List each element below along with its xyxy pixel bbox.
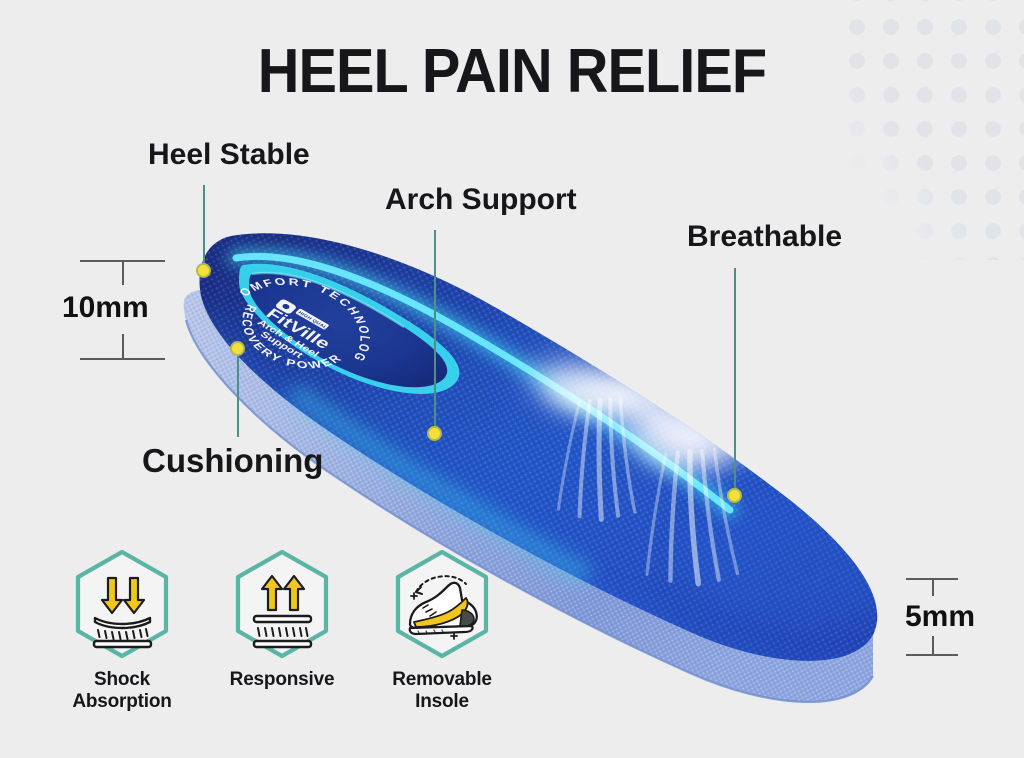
heel-cup <box>239 264 459 394</box>
page-title: HEEL PAIN RELIEF <box>36 36 988 107</box>
dimension-value-10mm: 10mm <box>62 291 149 325</box>
print-brand: FitVille <box>262 305 334 352</box>
callout-label-breathable: Breathable <box>687 220 842 254</box>
dimension-tick-bottom <box>80 358 165 360</box>
svg-text:COMFORT TECHNOLOGY: COMFORT TECHNOLOGY <box>234 253 403 366</box>
print-line-1: Arch & Heel <box>255 318 321 359</box>
feature-label-line: Responsive <box>230 669 335 691</box>
feature-responsive[interactable]: Responsive <box>202 548 362 691</box>
callout-dot-cushioning <box>230 341 245 356</box>
feature-shock-absorption[interactable]: Shock Absorption <box>42 548 202 712</box>
dimension-marker-5mm: 5mm <box>906 578 1016 658</box>
feature-label-responsive: Responsive <box>230 669 335 691</box>
feature-label-removable-insole: Removable Insole <box>392 669 492 712</box>
leader-line-breathable <box>734 268 736 490</box>
dimension-vline-bottom <box>932 636 934 654</box>
feature-label-shock-absorption: Shock Absorption <box>72 669 171 712</box>
dimension-tick-bottom <box>906 654 958 656</box>
callout-label-heel-stable: Heel Stable <box>148 138 310 172</box>
dimension-marker-10mm: 10mm <box>80 260 200 360</box>
arch-support-glow <box>236 256 730 572</box>
callout-dot-breathable <box>727 488 742 503</box>
dimension-vline-top <box>122 260 124 285</box>
feature-removable-insole[interactable]: Removable Insole <box>362 548 522 712</box>
feature-label-line: Absorption <box>72 691 171 713</box>
insole-print-logo: COMFORT TECHNOLOGY RECOVERY POWER HIGH Q… <box>202 253 402 396</box>
shoe-with-removable-insole-icon <box>390 548 494 660</box>
feature-label-line: Removable <box>392 669 492 691</box>
leader-line-heel-stable <box>203 185 205 265</box>
dimension-vline-top <box>932 578 934 596</box>
leader-line-arch-support <box>434 230 436 428</box>
callout-dot-arch-support <box>427 426 442 441</box>
svg-text:HIGH QUALITY: HIGH QUALITY <box>297 310 337 334</box>
dimension-vline-bottom <box>122 334 124 359</box>
feature-label-line: Shock <box>72 669 171 691</box>
callout-label-arch-support: Arch Support <box>385 183 577 217</box>
downward-arrows-compressed-foam-icon <box>70 548 174 660</box>
leader-line-cushioning <box>237 354 239 437</box>
infographic-canvas: COMFORT TECHNOLOGY RECOVERY POWER HIGH Q… <box>0 0 1024 758</box>
callout-label-cushioning: Cushioning <box>142 442 323 480</box>
upward-arrows-rebound-foam-icon <box>230 548 334 660</box>
breathability-vapor <box>520 356 792 588</box>
print-line-2: Support <box>258 330 306 360</box>
feature-list: Shock Absorption <box>42 548 522 748</box>
dimension-value-5mm: 5mm <box>905 600 975 634</box>
feature-label-line: Insole <box>392 691 492 713</box>
print-arc-top: COMFORT TECHNOLOGY <box>234 253 403 366</box>
